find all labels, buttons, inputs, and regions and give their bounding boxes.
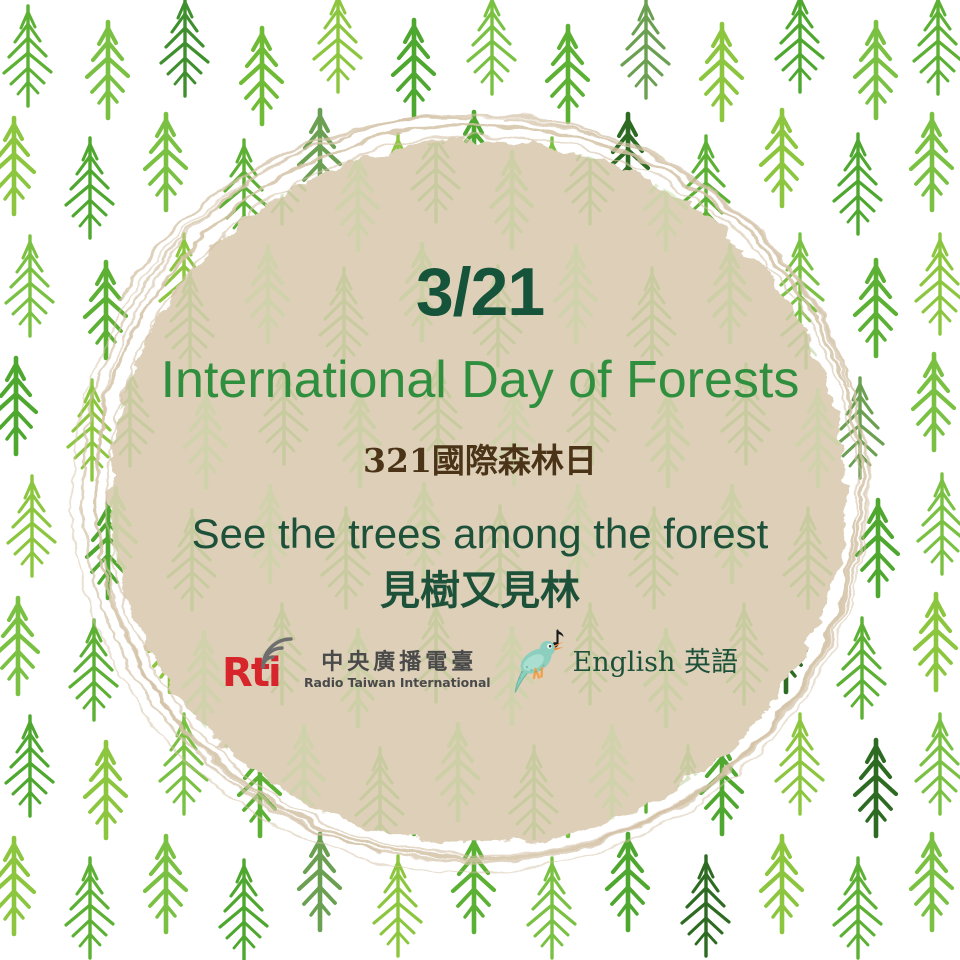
language-label: English 英語 <box>573 640 738 681</box>
page-title: International Day of Forests <box>0 352 960 409</box>
poster-canvas: 3/21 International Day of Forests 321國際森… <box>0 0 960 960</box>
footer-row: Rti 中央廣播電臺 Radio Taiwan International <box>0 622 960 698</box>
tagline-english: See the trees among the forest <box>0 511 960 557</box>
rti-name-block: 中央廣播電臺 Radio Taiwan International <box>304 652 490 692</box>
subtitle-chinese: 321國際森林日 <box>0 441 960 481</box>
rti-name-chinese: 中央廣播電臺 <box>317 652 477 674</box>
language-badge[interactable]: English 英語 <box>509 624 738 696</box>
rti-logo[interactable]: Rti 中央廣播電臺 Radio Taiwan International <box>222 629 490 691</box>
singing-bird-icon <box>509 624 571 696</box>
tagline-chinese: 見樹又見林 <box>0 567 960 615</box>
rti-name-english: Radio Taiwan International <box>304 677 490 690</box>
rti-logomark: Rti <box>222 637 298 691</box>
event-date: 3/21 <box>0 258 960 326</box>
radio-waves-icon <box>260 637 298 669</box>
poster-content: 3/21 International Day of Forests 321國際森… <box>0 0 960 960</box>
